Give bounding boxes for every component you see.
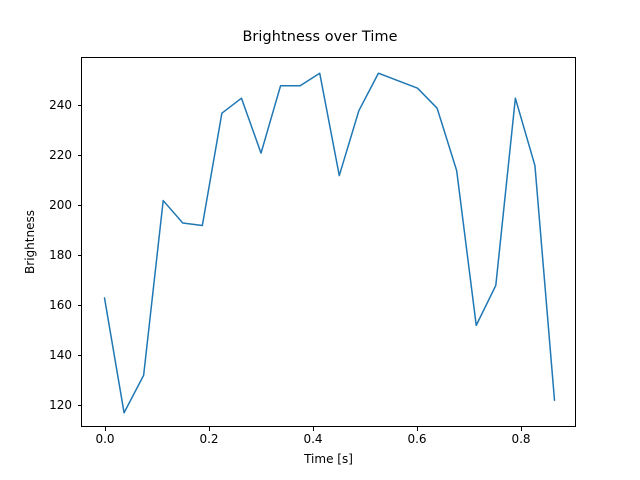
xtick-label-1: 0.2 <box>199 432 218 446</box>
x-axis-label: Time [s] <box>81 452 576 466</box>
ytick-label-180: 180 <box>40 248 72 262</box>
ytick-label-240: 240 <box>40 98 72 112</box>
matplotlib-figure: Brightness over Time 0.0 0.2 0.4 0.6 0.8… <box>0 0 640 480</box>
xtick-label-4: 0.8 <box>511 432 530 446</box>
ytick-label-120: 120 <box>40 398 72 412</box>
ytick-mark-160 <box>78 305 82 306</box>
ytick-mark-220 <box>78 155 82 156</box>
xtick-label-2: 0.4 <box>303 432 322 446</box>
line-chart-svg <box>82 58 577 428</box>
y-axis-label: Brightness <box>22 57 38 427</box>
ytick-mark-120 <box>78 405 82 406</box>
ytick-label-160: 160 <box>40 298 72 312</box>
chart-title: Brightness over Time <box>0 29 640 45</box>
xtick-label-3: 0.6 <box>407 432 426 446</box>
ytick-mark-240 <box>78 105 82 106</box>
xtick-label-0: 0.0 <box>95 432 114 446</box>
ytick-mark-180 <box>78 255 82 256</box>
xtick-mark-4 <box>521 427 522 431</box>
brightness-line-series <box>105 73 555 413</box>
xtick-mark-3 <box>417 427 418 431</box>
xtick-mark-2 <box>313 427 314 431</box>
xtick-mark-1 <box>209 427 210 431</box>
xtick-mark-0 <box>105 427 106 431</box>
ytick-label-140: 140 <box>40 348 72 362</box>
ytick-mark-140 <box>78 355 82 356</box>
ytick-label-220: 220 <box>40 148 72 162</box>
ytick-mark-200 <box>78 205 82 206</box>
ytick-label-200: 200 <box>40 198 72 212</box>
plot-axes-area <box>81 57 576 427</box>
